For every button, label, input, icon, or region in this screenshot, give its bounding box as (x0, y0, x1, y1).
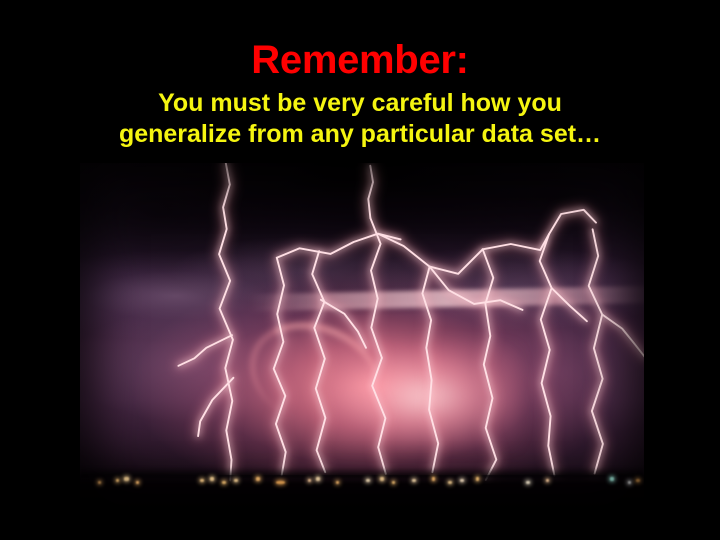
presentation-slide: Remember: You must be very careful how y… (0, 0, 720, 540)
subtitle-line-1: You must be very careful how you (0, 88, 720, 118)
city-light (256, 477, 260, 480)
city-light (136, 481, 139, 484)
city-light (432, 477, 435, 480)
city-light (276, 481, 285, 484)
city-light (124, 477, 129, 480)
city-light (610, 477, 614, 480)
city-light (448, 481, 452, 484)
lightning-storm-photo (80, 163, 644, 512)
ground-silhouette (80, 475, 644, 512)
city-light (476, 477, 479, 480)
lightning-bolts-layer (80, 163, 644, 512)
bolt-mid-left-br-halo (321, 300, 366, 348)
city-light (210, 477, 214, 480)
bolt-right-branch2 (552, 288, 587, 321)
subtitle-line-2: generalize from any particular data set… (0, 119, 720, 149)
city-light (222, 481, 226, 484)
city-light (628, 481, 631, 484)
bolt-core-group (178, 163, 644, 481)
city-light (392, 481, 395, 484)
city-light (98, 481, 101, 484)
bolt-right-main-halo (540, 234, 555, 475)
bolt-horizontal-3-halo (483, 210, 596, 250)
page-title: Remember: (0, 38, 720, 82)
bolt-right-branch-halo (602, 315, 644, 358)
city-light (526, 481, 530, 484)
city-light (380, 477, 384, 480)
city-light (316, 477, 320, 480)
slide-text-block: Remember: You must be very careful how y… (0, 0, 720, 163)
city-light (336, 481, 339, 484)
